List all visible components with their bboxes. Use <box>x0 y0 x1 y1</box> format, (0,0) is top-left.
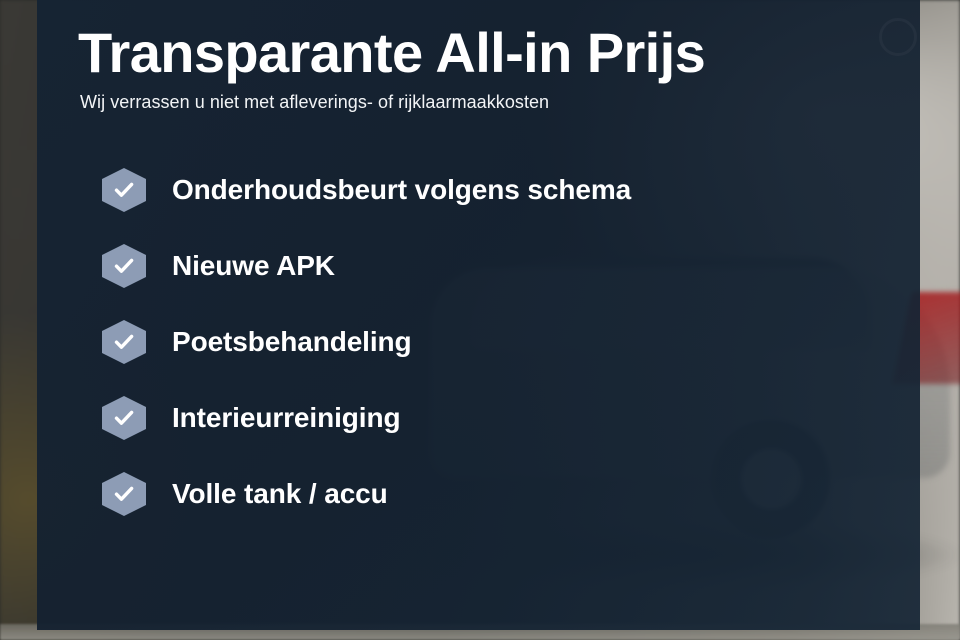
check-icon <box>102 472 146 516</box>
list-item-label: Volle tank / accu <box>172 477 388 511</box>
list-item: Poetsbehandeling <box>102 310 902 374</box>
page-title: Transparante All-in Prijs <box>78 22 878 84</box>
circle-watermark-icon <box>879 18 917 56</box>
list-item-label: Onderhoudsbeurt volgens schema <box>172 173 631 207</box>
heading-block: Transparante All-in Prijs Wij verrassen … <box>78 22 878 114</box>
feature-list: Onderhoudsbeurt volgens schema Nieuwe AP… <box>102 158 902 538</box>
check-icon <box>102 244 146 288</box>
check-icon <box>102 320 146 364</box>
promo-banner: Transparante All-in Prijs Wij verrassen … <box>0 0 960 640</box>
list-item-label: Poetsbehandeling <box>172 325 412 359</box>
list-item: Volle tank / accu <box>102 462 902 526</box>
page-subtitle: Wij verrassen u niet met afleverings- of… <box>80 90 878 114</box>
check-icon <box>102 168 146 212</box>
list-item: Interieurreiniging <box>102 386 902 450</box>
content-panel: Transparante All-in Prijs Wij verrassen … <box>37 0 920 630</box>
check-icon <box>102 396 146 440</box>
list-item: Nieuwe APK <box>102 234 902 298</box>
list-item-label: Nieuwe APK <box>172 249 335 283</box>
list-item: Onderhoudsbeurt volgens schema <box>102 158 902 222</box>
list-item-label: Interieurreiniging <box>172 401 400 435</box>
